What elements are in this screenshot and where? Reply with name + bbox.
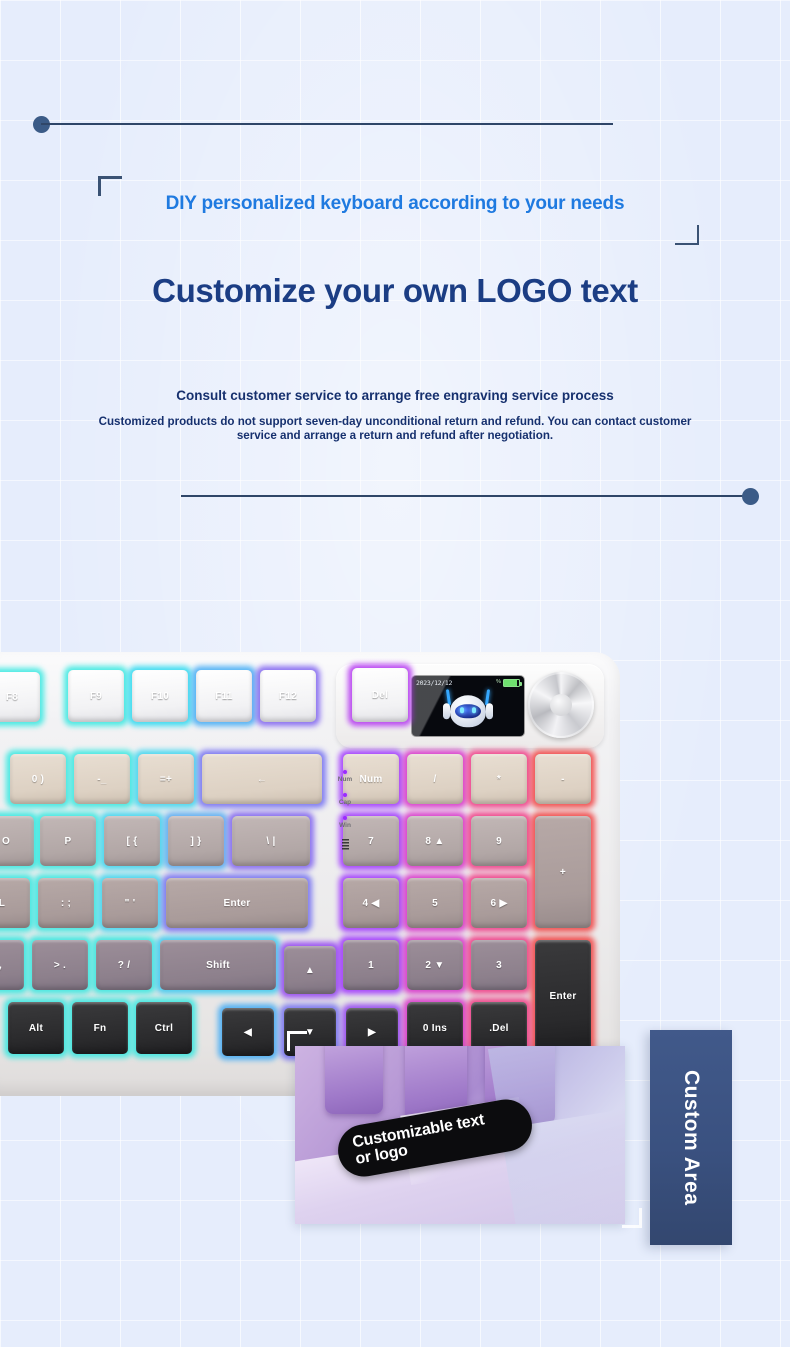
bottom-rule-dot [742, 488, 759, 505]
keycap[interactable]: ▲ [284, 946, 336, 994]
keycap-label: 3 [496, 960, 502, 971]
keycap[interactable]: + [535, 816, 591, 928]
win-lock-led [343, 816, 347, 820]
keycap[interactable]: Shift [160, 940, 276, 990]
keycap-label: F8 [6, 692, 18, 703]
indicator-win: Win [339, 816, 351, 829]
screen-battery-percent: % [496, 679, 501, 685]
indicator-cap: Cap [339, 793, 351, 806]
keycap-label: F10 [151, 691, 169, 702]
inset-keycap [325, 1046, 383, 1114]
keycap[interactable]: 8 ▲ [407, 816, 463, 866]
keyboard-display-screen: 2023/12/12 % [412, 676, 524, 736]
lead-text: Consult customer service to arrange free… [0, 388, 790, 403]
inset-bracket-bottom-right [622, 1208, 642, 1228]
keycap-label: P [65, 836, 72, 847]
keycap[interactable]: Enter [166, 878, 308, 928]
keycap-label: Alt [29, 1023, 43, 1034]
keycap-label: Num [359, 774, 382, 785]
keycap-label: [ { [127, 836, 138, 847]
keycap[interactable]: ← [202, 754, 322, 804]
keycap-label: ] } [191, 836, 202, 847]
keycap[interactable]: - [535, 754, 591, 804]
keycap-label: 2 ▼ [425, 960, 444, 971]
keycap[interactable]: Fn [72, 1002, 128, 1054]
inset-bracket-top-left [287, 1031, 307, 1051]
keycap-label: 7 [368, 836, 374, 847]
keycap[interactable]: 5 [407, 878, 463, 928]
keycap-label: 4 ◀ [363, 898, 380, 909]
keycap-label: Del [372, 690, 388, 701]
keycap-label: 0 ) [32, 774, 45, 785]
keycap[interactable]: ? / [96, 940, 152, 990]
page-title: Customize your own LOGO text [0, 272, 790, 310]
keycap-label: 6 ▶ [491, 898, 508, 909]
keycap[interactable]: / [407, 754, 463, 804]
keycap[interactable]: F12 [260, 670, 316, 722]
keycap-label: < , [0, 960, 2, 971]
keycap-label: F9 [90, 691, 102, 702]
keycap[interactable]: 1 [343, 940, 399, 990]
keycap-label: Fn [94, 1023, 107, 1034]
keycap[interactable]: * [471, 754, 527, 804]
indicator-num: Num [338, 770, 352, 783]
keycap[interactable]: ] } [168, 816, 224, 866]
status-indicator-strip: Num Cap Win [334, 770, 356, 900]
keycap-label: 0 Ins [423, 1023, 447, 1034]
keycap[interactable]: Alt [8, 1002, 64, 1054]
keycap-label: F11 [215, 691, 233, 702]
keycap-label: 1 [368, 960, 374, 971]
top-divider-rule [33, 116, 613, 133]
closeup-inset-photo: Customizable text or logo [295, 1046, 625, 1224]
keycap-label: -_ [97, 774, 107, 785]
keycap-label: ? / [118, 960, 131, 971]
keycap[interactable]: F11 [196, 670, 252, 722]
keycap[interactable]: -_ [74, 754, 130, 804]
bottom-rule-line [181, 495, 749, 497]
keycap[interactable]: < , [0, 940, 24, 990]
keycap[interactable]: =+ [138, 754, 194, 804]
keycap-label: F12 [279, 691, 297, 702]
keycap[interactable]: [ { [104, 816, 160, 866]
keycap-label: Shift [206, 960, 230, 971]
keycap-label: .Del [489, 1023, 509, 1034]
keycap[interactable]: Del [352, 668, 408, 722]
keycap[interactable]: > . [32, 940, 88, 990]
custom-area-label: Custom Area [679, 1070, 703, 1205]
subheadline: DIY personalized keyboard according to y… [0, 193, 790, 215]
keycap-label: Ctrl [155, 1023, 173, 1034]
keycap-label: 5 [432, 898, 438, 909]
keycap-label: - [561, 774, 565, 785]
keycap-label: ▲ [305, 965, 315, 976]
keycap-label: 9 [496, 836, 502, 847]
keycap[interactable]: ◀ [222, 1008, 274, 1056]
keycap[interactable]: P [40, 816, 96, 866]
num-lock-led [343, 770, 347, 774]
keyboard-product-photo: 2023/12/12 % F8F9F10F11F12Del0 )-_=+←Num… [0, 652, 620, 1096]
custom-area-panel: Custom Area [650, 1030, 732, 1245]
keycap-label: > . [54, 960, 66, 971]
keycap-label: =+ [160, 774, 172, 785]
keycap-label: ← [257, 774, 267, 785]
indicator-label-cap: Cap [339, 799, 351, 806]
caps-lock-led [343, 793, 347, 797]
keycap[interactable]: O [0, 816, 34, 866]
keycap[interactable]: " ' [102, 878, 158, 928]
barcode-icon [342, 839, 349, 851]
keycap[interactable]: 0 ) [10, 754, 66, 804]
battery-icon [503, 679, 520, 687]
keycap-label: Enter [223, 898, 250, 909]
keycap[interactable]: F8 [0, 672, 40, 722]
keycap-label: + [560, 867, 566, 878]
promo-page: DIY personalized keyboard according to y… [0, 0, 790, 1347]
keycap-label: " ' [125, 898, 136, 909]
return-policy-note: Customized products do not support seven… [95, 415, 695, 443]
keycap-label: O [2, 836, 10, 847]
indicator-label-num: Num [338, 776, 352, 783]
keycap[interactable]: Enter [535, 940, 591, 1052]
keycap-label: 8 ▲ [425, 836, 444, 847]
keycap[interactable]: F10 [132, 670, 188, 722]
keycap-label: ◀ [244, 1027, 252, 1038]
keycap[interactable]: 6 ▶ [471, 878, 527, 928]
top-rule-line [41, 123, 613, 125]
keycap-label: L [0, 898, 5, 909]
keycap[interactable]: 2 ▼ [407, 940, 463, 990]
keycap[interactable]: F9 [68, 670, 124, 722]
keycap-label: * [497, 774, 501, 785]
bottom-divider-rule [181, 488, 759, 505]
keycap-label: Enter [549, 991, 576, 1002]
keycap-label: \ | [266, 836, 275, 847]
indicator-label-win: Win [339, 822, 351, 829]
volume-knob[interactable] [528, 672, 594, 738]
keycap-label: : ; [61, 898, 71, 909]
keycap[interactable]: \ | [232, 816, 310, 866]
keycap[interactable]: : ; [38, 878, 94, 928]
keycap[interactable]: 9 [471, 816, 527, 866]
keycap-label: / [433, 774, 436, 785]
keycap[interactable]: Ctrl [136, 1002, 192, 1054]
headline-bracket-bottom-right [675, 225, 699, 245]
keycap[interactable]: 3 [471, 940, 527, 990]
keycap[interactable]: L [0, 878, 30, 928]
keycap-label: ▶ [368, 1027, 376, 1038]
